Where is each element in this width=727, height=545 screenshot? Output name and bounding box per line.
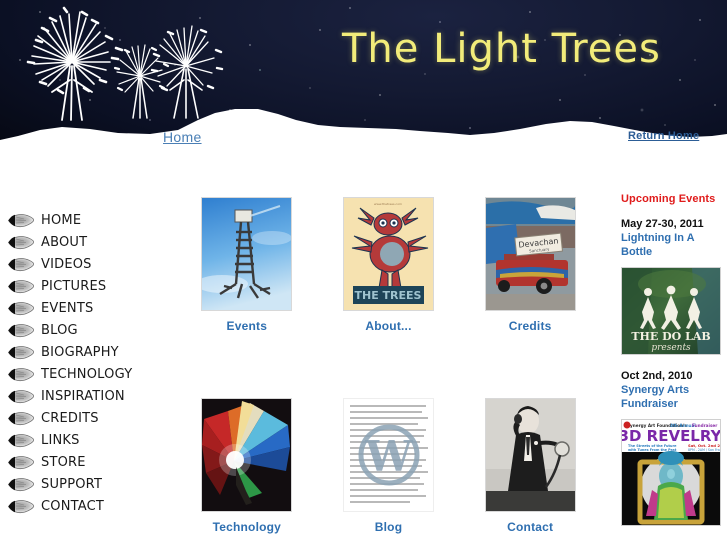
rail-heading: Upcoming Events [612,193,727,205]
tile-events[interactable]: Events [176,196,318,333]
svg-text:THE DO LAB: THE DO LAB [631,330,710,343]
tile-about[interactable]: THE TREES www.thetrees.com About... [318,196,460,333]
sidebar-item-biography[interactable]: BIOGRAPHY [0,341,175,363]
rail-spacer [612,355,727,369]
tile-caption: Contact [459,520,601,534]
sidebar-item-contact[interactable]: CONTACT [0,495,175,517]
nav-link-home[interactable]: Home [163,129,202,145]
svg-text:THE TREES: THE TREES [355,289,422,302]
nav-link-return-home[interactable]: Return Home [628,130,699,142]
sidebar-item-links[interactable]: LINKS [0,429,175,451]
leaf-bullet-icon [7,389,35,404]
svg-text:W: W [364,432,413,481]
tile-blog[interactable]: W Blog [318,397,460,534]
vintage-man-with-telephone-photo[interactable] [485,398,576,512]
main-navigation-sidebar: HOMEABOUTVIDEOSPICTURESEVENTSBLOGBIOGRAP… [0,209,175,517]
event-date: Oct 2nd, 2010 [612,369,727,383]
sidebar-item-label: SUPPORT [41,477,102,492]
sidebar-item-inspiration[interactable]: INSPIRATION [0,385,175,407]
sidebar-item-events[interactable]: EVENTS [0,297,175,319]
sidebar-item-technology[interactable]: TECHNOLOGY [0,363,175,385]
sidebar-item-label: LINKS [41,433,80,448]
tile-image-wrap: Devachan Sanctuary [459,196,601,312]
tile-image-wrap [459,397,601,513]
sidebar-item-label: TECHNOLOGY [41,367,132,382]
sidebar-item-label: BLOG [41,323,78,338]
the-do-lab-presents-flyer[interactable]: THE DO LAB presents [621,267,721,355]
upcoming-events-rail: Upcoming Events May 27-30, 2011 Lightnin… [612,193,727,526]
sidebar-item-label: BIOGRAPHY [41,345,119,360]
tile-caption: Blog [318,520,460,534]
svg-text:www.thetrees.com: www.thetrees.com [374,202,402,206]
tile-credits[interactable]: Devachan Sanctuary Credits [459,196,601,333]
thumbnail-grid: Events [176,196,601,534]
svg-text:presents: presents [651,343,691,353]
sidebar-item-credits[interactable]: CREDITS [0,407,175,429]
event-link-line2[interactable]: Fundraiser [612,397,727,411]
sidebar-item-label: CONTACT [41,499,104,514]
the-trees-lorax-poster[interactable]: THE TREES www.thetrees.com [343,197,434,311]
leaf-bullet-icon [7,345,35,360]
sidebar-item-label: EVENTS [41,301,93,316]
light-tree-sculpture-blue-sky-photo[interactable] [201,197,292,311]
event-item-1: May 27-30, 2011 Lightning In A Bottle TH… [612,217,727,355]
sidebar-item-about[interactable]: ABOUT [0,231,175,253]
leaf-bullet-icon [7,411,35,426]
thumbnail-row-1: Events [176,196,601,333]
site-banner: The Light Trees Home Return Home [0,0,727,162]
tile-caption: Technology [176,520,318,534]
tile-image-wrap [176,397,318,513]
tile-caption: Events [176,319,318,333]
sidebar-item-pictures[interactable]: PICTURES [0,275,175,297]
wordpress-logo-on-text-page[interactable]: W [343,398,434,512]
sidebar-item-blog[interactable]: BLOG [0,319,175,341]
tile-image-wrap: THE TREES www.thetrees.com [318,196,460,312]
sidebar-item-label: STORE [41,455,86,470]
event-item-2: Oct 2nd, 2010 Synergy Arts Fundraiser Sy… [612,369,727,526]
sidebar-item-label: HOME [41,213,81,228]
sidebar-item-label: INSPIRATION [41,389,125,404]
leaf-bullet-icon [7,499,35,514]
tile-caption: About... [318,319,460,333]
page-title: The Light Trees [342,26,661,72]
event-date: May 27-30, 2011 [612,217,727,231]
3d-revelry-poster[interactable]: Synergy Art Foundation's 4th Annual Fund… [621,419,721,526]
leaf-bullet-icon [7,477,35,492]
sidebar-item-label: CREDITS [41,411,99,426]
leaf-bullet-icon [7,367,35,382]
leaf-bullet-icon [7,213,35,228]
tile-contact[interactable]: Contact [459,397,601,534]
devachan-painted-car-photo[interactable]: Devachan Sanctuary [485,197,576,311]
tile-image-wrap [176,196,318,312]
thumbnail-row-2: Technology [176,397,601,534]
leaf-bullet-icon [7,301,35,316]
snow-hills-silhouette-icon [0,100,727,162]
sidebar-item-label: PICTURES [41,279,106,294]
sidebar-item-support[interactable]: SUPPORT [0,473,175,495]
leaf-bullet-icon [7,279,35,294]
leaf-bullet-icon [7,433,35,448]
leaf-bullet-icon [7,235,35,250]
sidebar-item-store[interactable]: STORE [0,451,175,473]
sidebar-item-videos[interactable]: VIDEOS [0,253,175,275]
sidebar-item-home[interactable]: HOME [0,209,175,231]
tile-caption: Credits [459,319,601,333]
light-burst-rainbow-photo[interactable] [201,398,292,512]
leaf-bullet-icon [7,455,35,470]
sidebar-item-label: ABOUT [41,235,87,250]
event-link[interactable]: Lightning In A Bottle [612,231,727,259]
tile-image-wrap: W [318,397,460,513]
leaf-bullet-icon [7,323,35,338]
leaf-bullet-icon [7,257,35,272]
event-link-line1[interactable]: Synergy Arts [612,383,727,397]
tile-technology[interactable]: Technology [176,397,318,534]
svg-text:8PM - 2AM / San Francisco: 8PM - 2AM / San Francisco [688,448,720,452]
sidebar-item-label: VIDEOS [41,257,92,272]
